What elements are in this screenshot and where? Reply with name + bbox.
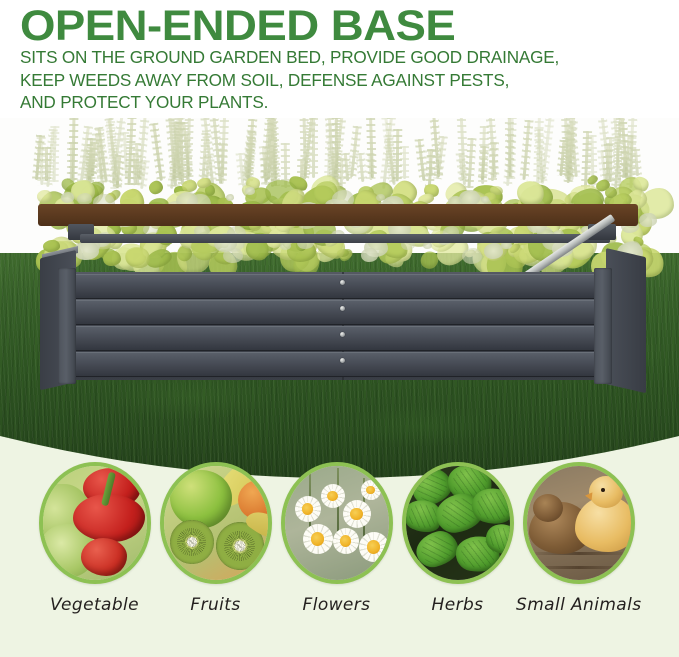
panel-rib bbox=[74, 300, 612, 325]
vegetable-image bbox=[43, 466, 147, 580]
vegetable-circle-icon[interactable] bbox=[39, 462, 151, 584]
subtitle-line-2: KEEP WEEDS AWAY FROM SOIL, DEFENSE AGAIN… bbox=[20, 69, 559, 92]
herb-sprig bbox=[115, 155, 121, 188]
back-rail bbox=[80, 234, 610, 243]
subtitle-line-1: SITS ON THE GROUND GARDEN BED, PROVIDE G… bbox=[20, 46, 559, 69]
herb-sprig bbox=[45, 147, 48, 181]
herbs-image bbox=[406, 466, 510, 580]
mint-leaf-6 bbox=[412, 527, 461, 570]
feature-icons-row: Vegetable Fruits bbox=[0, 462, 679, 622]
flowers-image bbox=[285, 466, 389, 580]
feature-item-fruits[interactable]: Fruits bbox=[153, 462, 278, 615]
chick-eye bbox=[601, 488, 605, 492]
product-photo bbox=[0, 118, 679, 490]
dirt-line-1 bbox=[527, 552, 631, 555]
silver-foliage-clump bbox=[245, 187, 255, 195]
herb-sprig bbox=[369, 118, 374, 178]
herb-sprig bbox=[536, 118, 541, 186]
herbs-circle-icon[interactable] bbox=[402, 462, 514, 584]
herb-sprig bbox=[491, 142, 496, 181]
daisy-7 bbox=[361, 480, 381, 500]
apple-shape bbox=[170, 470, 232, 528]
herb-sprig bbox=[312, 118, 315, 178]
planter-front-panel bbox=[74, 272, 612, 380]
panel-rib bbox=[74, 274, 612, 299]
herb-sprig bbox=[634, 149, 639, 176]
herb-sprig bbox=[508, 118, 512, 178]
herb-sprig bbox=[625, 135, 631, 177]
herb-sprig bbox=[559, 140, 565, 176]
daisy-6 bbox=[359, 532, 389, 562]
herb-sprig bbox=[459, 153, 465, 180]
feature-label-fruits: Fruits bbox=[153, 595, 278, 615]
herb-sprig bbox=[247, 119, 255, 185]
subtitle-text: SITS ON THE GROUND GARDEN BED, PROVIDE G… bbox=[20, 46, 559, 114]
feature-label-vegetable: Vegetable bbox=[32, 595, 157, 615]
herb-sprig bbox=[417, 139, 425, 181]
panel-screw bbox=[340, 358, 345, 363]
silver-foliage-clump bbox=[226, 194, 234, 201]
herb-sprig bbox=[152, 123, 163, 181]
herb-sprig bbox=[70, 142, 73, 183]
header-section: OPEN-ENDED BASE SITS ON THE GROUND GARDE… bbox=[0, 0, 679, 122]
feature-label-small-animals: Small Animals bbox=[516, 595, 641, 615]
daisy-3 bbox=[343, 500, 371, 528]
tomato-shape bbox=[81, 538, 127, 576]
kiwi-shape-1 bbox=[170, 520, 214, 564]
herb-sprig bbox=[91, 142, 96, 176]
herb-sprig bbox=[35, 135, 42, 180]
herb-sprig bbox=[402, 146, 405, 179]
feature-item-small-animals[interactable]: Small Animals bbox=[516, 462, 641, 615]
herb-sprig bbox=[53, 126, 57, 182]
corner-post-right bbox=[594, 268, 612, 384]
feature-item-vegetable[interactable]: Vegetable bbox=[32, 462, 157, 615]
feature-item-flowers[interactable]: Flowers bbox=[274, 462, 399, 615]
panel-screw bbox=[340, 332, 345, 337]
daisy-1 bbox=[295, 496, 321, 522]
feature-label-herbs: Herbs bbox=[395, 595, 520, 615]
fruits-circle-icon[interactable] bbox=[160, 462, 272, 584]
raised-garden-bed bbox=[28, 210, 652, 390]
silver-foliage-clump bbox=[481, 196, 490, 203]
daisy-2 bbox=[321, 484, 345, 508]
herb-sprig bbox=[359, 153, 365, 182]
corner-post-left bbox=[58, 268, 76, 384]
subtitle-line-3: AND PROTECT YOUR PLANTS. bbox=[20, 91, 559, 114]
chick-brown-head bbox=[533, 494, 563, 522]
fruits-image bbox=[164, 466, 268, 580]
chick-beak bbox=[584, 492, 592, 501]
panel-rib bbox=[74, 326, 612, 351]
silver-foliage-clump bbox=[484, 243, 503, 258]
soil-layer bbox=[38, 204, 638, 226]
daisy-4 bbox=[303, 524, 333, 554]
panel-screw bbox=[340, 306, 345, 311]
silver-foliage-clump bbox=[361, 248, 379, 262]
panel-screw bbox=[340, 280, 345, 285]
small-animals-circle-icon[interactable] bbox=[523, 462, 635, 584]
herb-sprig bbox=[467, 138, 473, 188]
silver-foliage-clump bbox=[639, 213, 656, 227]
herb-sprig bbox=[343, 153, 348, 181]
herb-sprig bbox=[522, 120, 530, 180]
herb-sprig bbox=[132, 153, 137, 185]
small-animals-image bbox=[527, 466, 631, 580]
plant-leaf bbox=[147, 179, 165, 196]
flowers-circle-icon[interactable] bbox=[281, 462, 393, 584]
dirt-line-2 bbox=[527, 566, 631, 569]
silver-foliage-clump bbox=[423, 242, 432, 249]
page-title: OPEN-ENDED BASE bbox=[20, 2, 455, 51]
feature-item-herbs[interactable]: Herbs bbox=[395, 462, 520, 615]
herb-sprig bbox=[262, 146, 267, 181]
chick-yellow-head bbox=[589, 476, 623, 508]
herb-sprig bbox=[481, 126, 486, 184]
feature-label-flowers: Flowers bbox=[274, 595, 399, 615]
panel-rib bbox=[74, 352, 612, 377]
daisy-5 bbox=[333, 528, 359, 554]
